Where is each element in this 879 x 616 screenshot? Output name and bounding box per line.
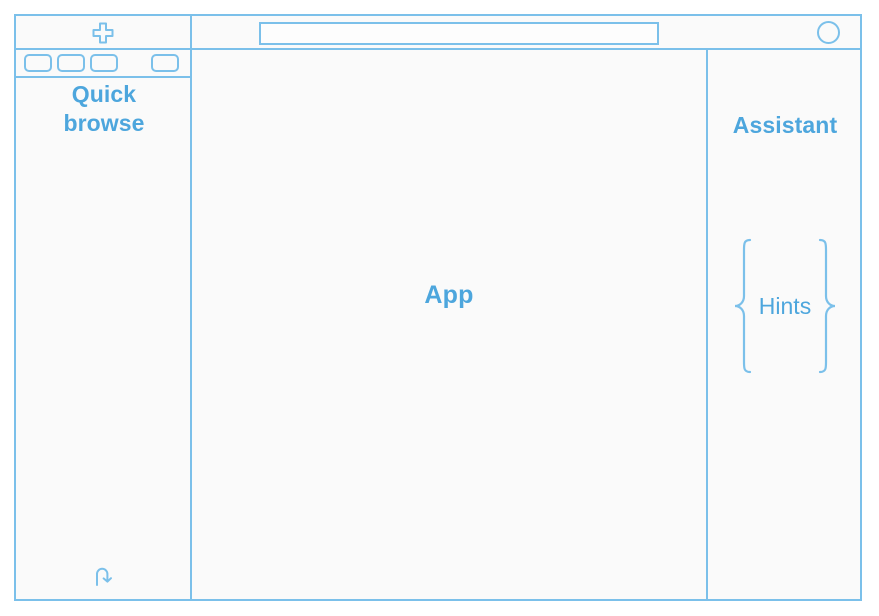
header-add-zone[interactable]: [16, 16, 192, 50]
sidebar-title-line-2: browse: [16, 109, 192, 138]
u-turn-arrow-icon[interactable]: [89, 561, 119, 591]
app-label: App: [424, 281, 473, 310]
sidebar-title: Quick browse: [16, 80, 192, 139]
wireframe-canvas: Quick browse App Assistant Hints: [0, 0, 879, 616]
sidebar-tab-two[interactable]: [57, 54, 85, 72]
plus-icon: [91, 21, 115, 45]
sidebar-tab-three[interactable]: [90, 54, 118, 72]
app-window-frame: Quick browse App Assistant Hints: [14, 14, 862, 601]
hints-block: Hints: [716, 236, 854, 376]
circle-avatar-icon[interactable]: [817, 21, 840, 44]
sidebar-title-line-1: Quick: [16, 80, 192, 109]
hints-label: Hints: [755, 293, 815, 320]
sidebar-footer: [16, 561, 192, 591]
left-brace-icon: [733, 236, 755, 376]
top-header-bar: [16, 16, 860, 50]
sidebar-tabstrip: [16, 50, 192, 78]
sidebar-tab-one[interactable]: [24, 54, 52, 72]
assistant-title: Assistant: [708, 112, 862, 139]
app-main-canvas: App: [192, 50, 706, 599]
sidebar-tab-overflow[interactable]: [151, 54, 179, 72]
right-brace-icon: [815, 236, 837, 376]
search-input[interactable]: [259, 22, 659, 45]
quick-browse-sidebar: Quick browse: [16, 50, 192, 599]
assistant-panel: Assistant Hints: [706, 50, 860, 599]
